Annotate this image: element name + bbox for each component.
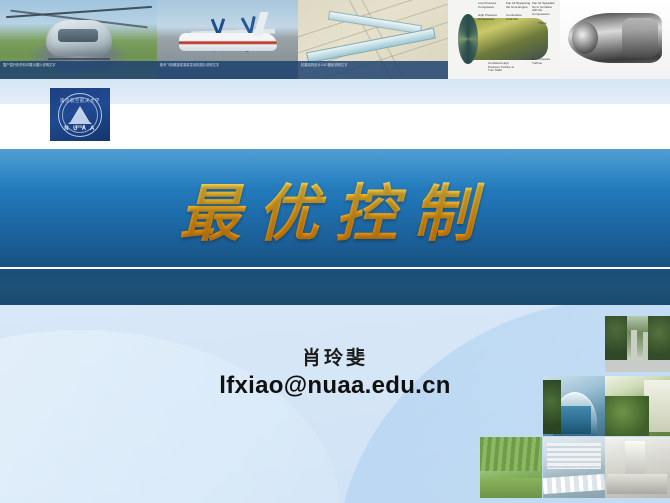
- slide-title: 最优控制: [0, 172, 670, 256]
- photo-turbofan-engine: [560, 0, 670, 79]
- photo-helicopter: 国产直升机停机坪展示图片说明文字: [0, 0, 157, 79]
- photo-caption: [448, 61, 560, 79]
- dormitory-block: [547, 443, 601, 469]
- diagram-label: Thrust: [538, 22, 558, 26]
- photo-engine-cutaway-diagram: Low Pressure Compressor Fan Air Bypassin…: [448, 0, 560, 79]
- library-glass-wall: [559, 406, 591, 434]
- turbofan-exhaust-duct: [622, 18, 658, 58]
- presentation-slide: 国产直升机停机坪展示图片说明文字 新舟飞机螺旋桨涡桨发动机图片说明文字 机翼结构…: [0, 0, 670, 503]
- banner-divider-line: [0, 267, 670, 269]
- diagram-label: Fan Air Bypassing the Core Engine: [506, 2, 532, 9]
- pagoda-base-icon: [68, 113, 92, 124]
- helicopter-skid: [48, 58, 110, 60]
- aircraft-fuselage: [179, 33, 277, 51]
- nuaa-logo: 南京航空航天大学 1952 N U A A: [50, 88, 110, 141]
- shrub-foliage: [605, 396, 649, 436]
- photo-caption: 机翼结构设计CAD图纸说明文字: [298, 61, 448, 79]
- author-block: 肖玲斐 lfxiao@nuaa.edu.cn: [0, 345, 670, 401]
- photo-wing-cad-drawing: 机翼结构设计CAD图纸说明文字: [298, 0, 448, 79]
- diagram-label: Low Pressure Compressor: [478, 2, 504, 9]
- university-seal-icon: 南京航空航天大学 1952 N U A A: [58, 93, 102, 137]
- helicopter-window: [58, 29, 98, 42]
- diagram-label: Fan Air Speeded Up to Combine with the C…: [532, 2, 558, 16]
- diagram-label: High Pressure Compressor: [478, 14, 502, 21]
- campus-photo-wisteria-garden: [480, 437, 542, 498]
- author-name: 肖玲斐: [0, 345, 670, 371]
- logo-chinese-name: 南京航空航天大学: [59, 98, 101, 104]
- photo-turboprop-aircraft: 新舟飞机螺旋桨涡桨发动机图片说明文字: [157, 0, 298, 79]
- logo-abbreviation: N U A A: [59, 126, 101, 132]
- author-email: lfxiao@nuaa.edu.cn: [0, 371, 670, 401]
- campus-photo-bridge-dormitory: [543, 437, 605, 498]
- title-banner-lower: [0, 269, 670, 305]
- turbofan-fan-hub: [572, 22, 598, 54]
- bridge-railing: [543, 474, 605, 494]
- photo-caption: 新舟飞机螺旋桨涡桨发动机图片说明文字: [157, 61, 298, 79]
- tower-base-building: [607, 474, 667, 494]
- garden-lawn: [480, 478, 542, 498]
- diagram-label: Combustion Chamber: [506, 14, 530, 21]
- photo-caption: [560, 61, 670, 79]
- cad-wing-spar-lower: [306, 28, 436, 64]
- wisteria-canopy: [480, 437, 542, 471]
- engine-fan-icon: [458, 14, 478, 64]
- photo-caption: 国产直升机停机坪展示图片说明文字: [0, 61, 157, 79]
- campus-photo-tower-building: [605, 437, 670, 498]
- header-photo-strip: 国产直升机停机坪展示图片说明文字 新舟飞机螺旋桨涡桨发动机图片说明文字 机翼结构…: [0, 0, 670, 79]
